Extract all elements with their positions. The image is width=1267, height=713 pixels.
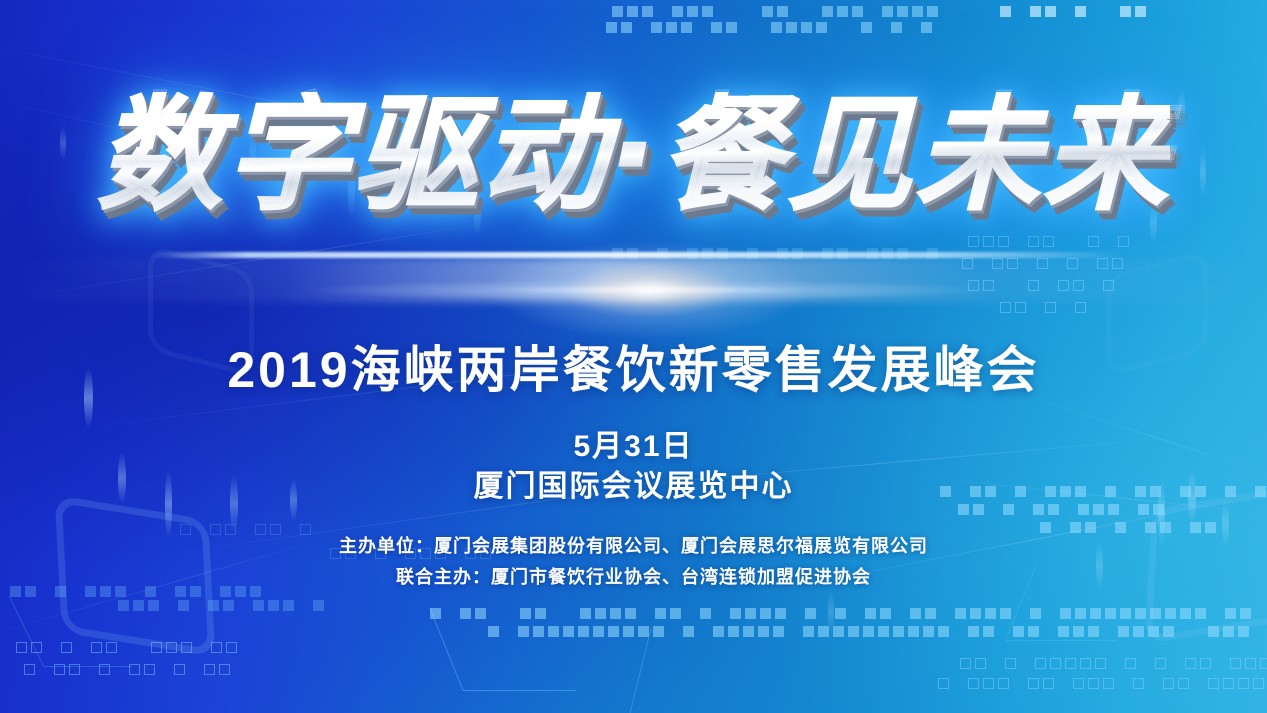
poster-content: 数字驱动·餐见未来 2019海峡两岸餐饮新零售发展峰会 5月31日 厦门国际会议… <box>0 0 1267 713</box>
event-venue: 厦门国际会议展览中心 <box>0 461 1267 505</box>
poster-subtitle: 2019海峡两岸餐饮新零售发展峰会 <box>0 330 1267 402</box>
organizers-block: 主办单位：厦门会展集团股份有限公司、厦门会展思尔福展览有限公司 联合主办：厦门市… <box>0 531 1267 593</box>
event-date: 5月31日 <box>0 421 1267 465</box>
conference-poster: 数字驱动·餐见未来 2019海峡两岸餐饮新零售发展峰会 5月31日 厦门国际会议… <box>0 0 1267 713</box>
headline-wrapper: 数字驱动·餐见未来 <box>0 92 1267 282</box>
poster-headline: 数字驱动·餐见未来 <box>97 92 1171 218</box>
organizer-line-cohost: 联合主办：厦门市餐饮行业协会、台湾连锁加盟促进协会 <box>0 562 1267 593</box>
organizer-line-host: 主办单位：厦门会展集团股份有限公司、厦门会展思尔福展览有限公司 <box>0 531 1267 562</box>
